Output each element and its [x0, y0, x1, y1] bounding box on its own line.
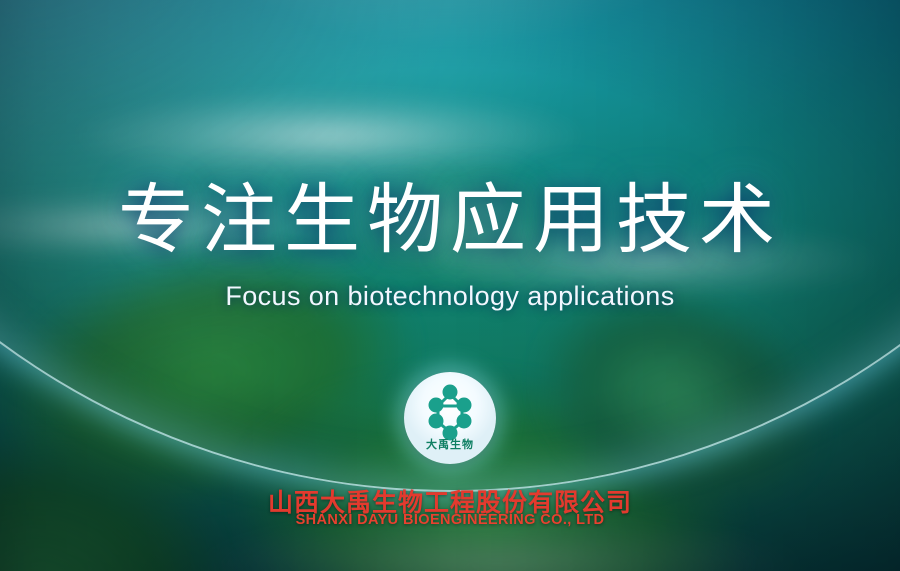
- logo-badge-text: 大禹生物: [404, 436, 496, 452]
- company-logo: 大禹生物: [404, 372, 496, 464]
- headline-chinese: 专注生物应用技术: [0, 183, 900, 259]
- slide-canvas: 专注生物应用技术 Focus on biotechnology applicat…: [0, 0, 900, 571]
- company-name-english: SHANXI DAYU BIOENGINEERING CO., LTD: [0, 512, 900, 528]
- headline-english: Focus on biotechnology applications: [0, 281, 900, 312]
